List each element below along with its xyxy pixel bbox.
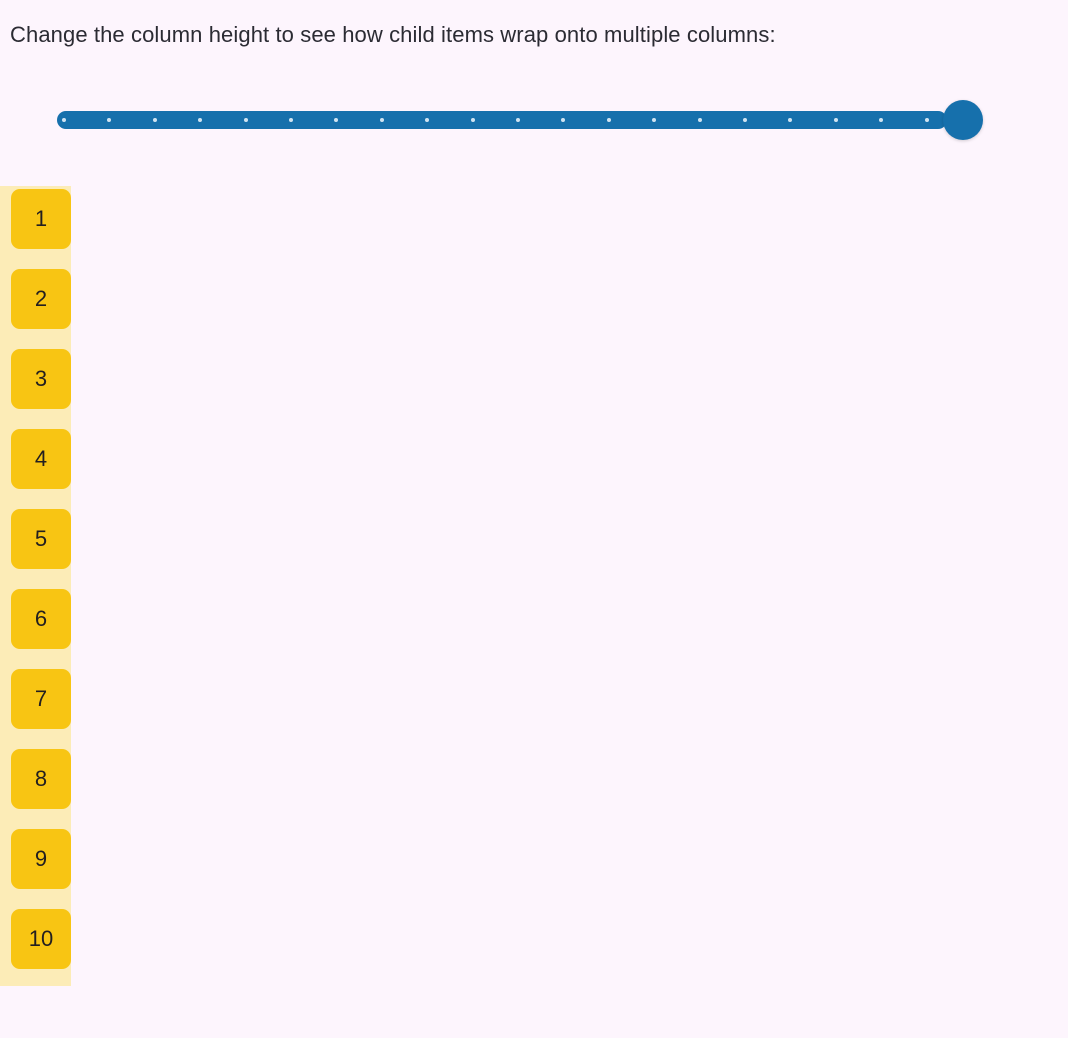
slider-tick xyxy=(879,118,883,122)
flex-item-label: 9 xyxy=(35,846,47,872)
slider-tick xyxy=(471,118,475,122)
column-height-slider[interactable] xyxy=(57,100,983,142)
flex-item-label: 7 xyxy=(35,686,47,712)
flex-item: 3 xyxy=(11,349,71,409)
flex-item-label: 6 xyxy=(35,606,47,632)
flex-item-label: 3 xyxy=(35,366,47,392)
flex-item: 2 xyxy=(11,269,71,329)
flex-column-container: 12345678910 xyxy=(0,186,71,986)
slider-tick xyxy=(334,118,338,122)
slider-tick-marks xyxy=(57,111,947,129)
slider-tick xyxy=(153,118,157,122)
flex-item-label: 2 xyxy=(35,286,47,312)
flex-item: 5 xyxy=(11,509,71,569)
flex-item: 9 xyxy=(11,829,71,889)
slider-tick xyxy=(380,118,384,122)
flex-item: 6 xyxy=(11,589,71,649)
slider-tick xyxy=(652,118,656,122)
slider-tick xyxy=(607,118,611,122)
slider-thumb[interactable] xyxy=(943,100,983,140)
slider-tick xyxy=(289,118,293,122)
slider-tick xyxy=(743,118,747,122)
slider-tick xyxy=(516,118,520,122)
flex-item: 1 xyxy=(11,189,71,249)
flex-item: 4 xyxy=(11,429,71,489)
slider-tick xyxy=(561,118,565,122)
flex-item: 7 xyxy=(11,669,71,729)
slider-tick xyxy=(244,118,248,122)
slider-tick xyxy=(925,118,929,122)
slider-tick xyxy=(198,118,202,122)
flex-item: 8 xyxy=(11,749,71,809)
slider-tick xyxy=(425,118,429,122)
flex-item-label: 4 xyxy=(35,446,47,472)
slider-tick xyxy=(107,118,111,122)
flex-item-label: 1 xyxy=(35,206,47,232)
flex-item: 10 xyxy=(11,909,71,969)
flex-item-label: 5 xyxy=(35,526,47,552)
flex-item-label: 8 xyxy=(35,766,47,792)
slider-tick xyxy=(62,118,66,122)
slider-tick xyxy=(698,118,702,122)
slider-tick xyxy=(834,118,838,122)
instruction-text: Change the column height to see how chil… xyxy=(10,20,776,50)
flex-item-label: 10 xyxy=(29,926,53,952)
slider-tick xyxy=(788,118,792,122)
